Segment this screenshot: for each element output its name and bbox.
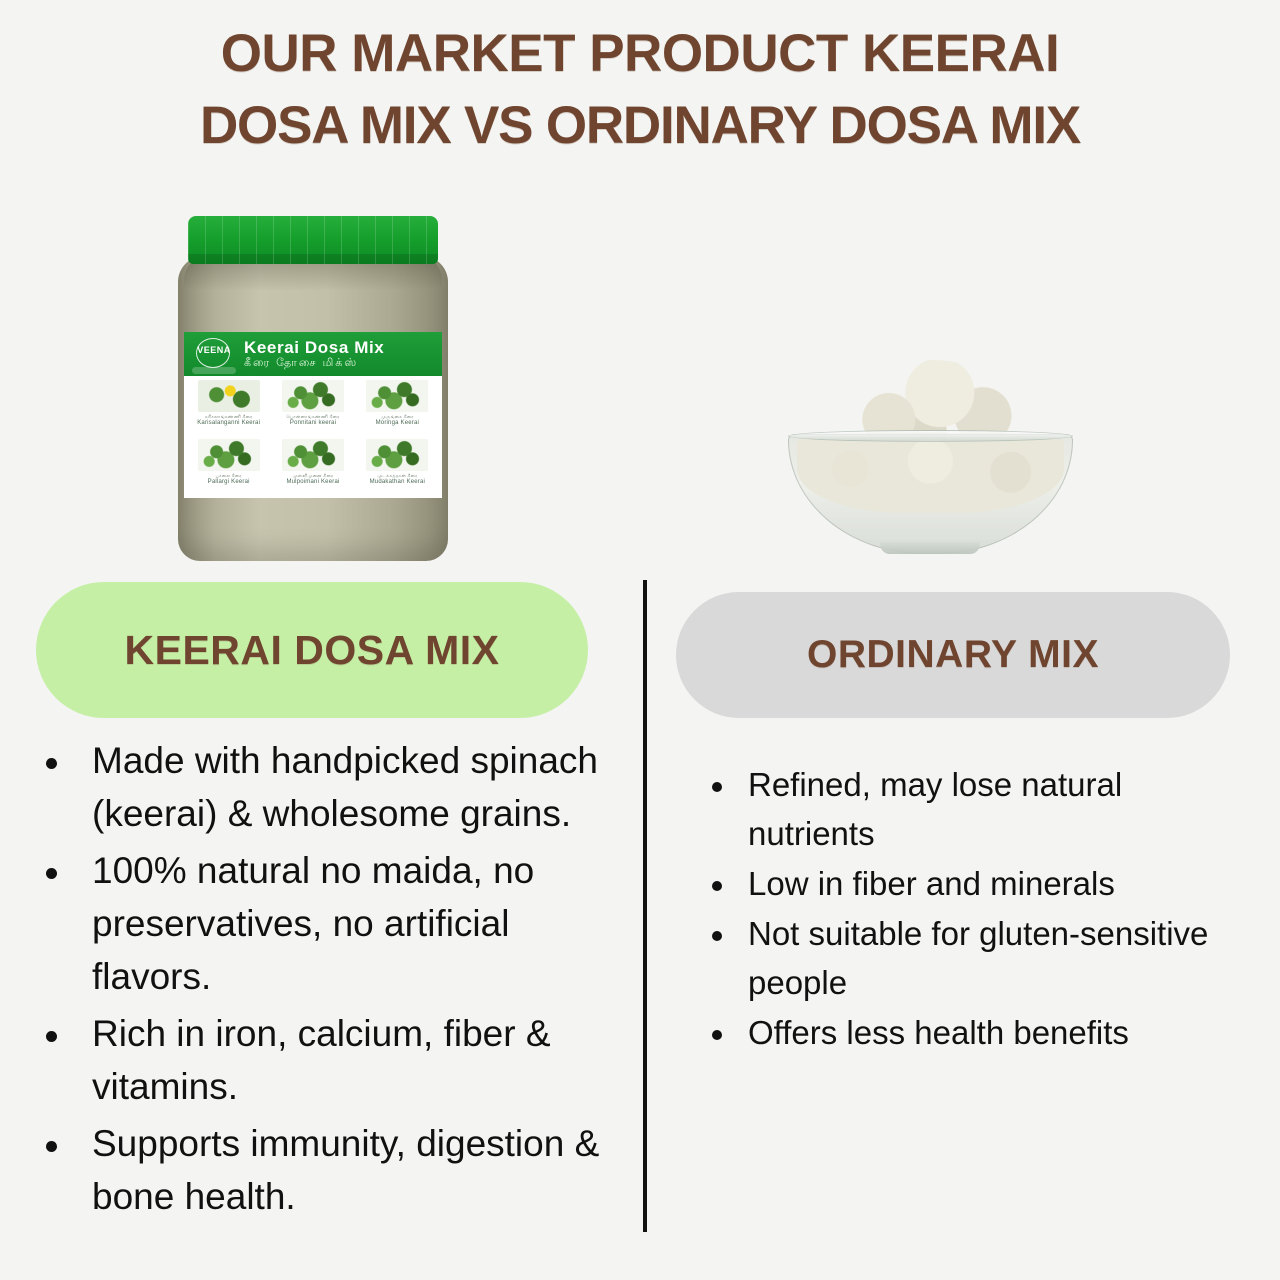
herb-photo-icon [366, 380, 428, 412]
herb-cell: பொன்னாங்கண்ணி கீரை Ponnitani keerai [271, 380, 354, 438]
herb-name-english: Ponnitani keerai [290, 420, 336, 427]
ordinary-mix-drawbacks-list: Refined, may lose natural nutrients Low … [700, 760, 1230, 1058]
list-item: 100% natural no maida, no preservatives,… [32, 844, 632, 1003]
column-divider [643, 580, 647, 1232]
herb-cell: முருங்கை கீரை Moringa Keerai [356, 380, 439, 438]
page-title: OUR MARKET PRODUCT KEERAI DOSA MIX VS OR… [0, 18, 1280, 162]
herb-name-english: Pallargi Keerai [208, 479, 250, 486]
herb-cell: பசலை கீரை Pallargi Keerai [187, 439, 270, 497]
list-item: Not suitable for gluten-sensitive people [700, 909, 1230, 1007]
herb-name-english: Moringa Keerai [376, 420, 420, 427]
herb-photo-icon [282, 439, 344, 471]
ordinary-flour-bowl-image [788, 360, 1073, 560]
label-header-band: VEENA Keerai Dosa Mix கீரை தோசை மிக்ஸ் [184, 332, 442, 376]
keerai-dosa-mix-heading-label: KEERAI DOSA MIX [124, 627, 499, 674]
comparison-poster: OUR MARKET PRODUCT KEERAI DOSA MIX VS OR… [0, 0, 1280, 1280]
herb-name-english: Mudakathan Keerai [370, 479, 425, 486]
glass-bowl [788, 434, 1073, 554]
herb-name-english: Mulpoimani Keerai [286, 479, 339, 486]
keerai-dosa-mix-heading-pill: KEERAI DOSA MIX [36, 582, 588, 718]
label-title-group: Keerai Dosa Mix கீரை தோசை மிக்ஸ் [238, 338, 384, 370]
herb-cell: முடக்கத்தான் கீரை Mudakathan Keerai [356, 439, 439, 497]
veena-brand-logo-icon: VEENA [190, 334, 238, 374]
label-title-english: Keerai Dosa Mix [244, 338, 384, 357]
logo-tagline-bar [192, 367, 236, 374]
list-item: Supports immunity, digestion & bone heal… [32, 1117, 632, 1223]
bowl-rim [788, 430, 1073, 442]
title-line-2: DOSA MIX VS ORDINARY DOSA MIX [0, 90, 1280, 162]
title-line-1: OUR MARKET PRODUCT KEERAI [0, 18, 1280, 90]
list-item: Low in fiber and minerals [700, 859, 1230, 908]
list-item: Offers less health benefits [700, 1008, 1230, 1057]
jar-product-label: VEENA Keerai Dosa Mix கீரை தோசை மிக்ஸ் க… [184, 332, 442, 498]
herb-cell: முள்ளிமுனை கீரை Mulpoimani Keerai [271, 439, 354, 497]
herb-grid: கரிசலாங்கண்ணி கீரை Karisalanganni Keerai… [184, 376, 442, 498]
list-item: Refined, may lose natural nutrients [700, 760, 1230, 858]
jar-lid-ribs [188, 216, 438, 264]
herb-photo-icon [198, 380, 260, 412]
flour-inside-bowl [797, 439, 1064, 513]
herb-name-english: Karisalanganni Keerai [197, 420, 260, 427]
label-title-tamil: கீரை தோசை மிக்ஸ் [244, 357, 384, 370]
keerai-dosa-mix-jar-image: VEENA Keerai Dosa Mix கீரை தோசை மிக்ஸ் க… [178, 216, 468, 561]
herb-cell: கரிசலாங்கண்ணி கீரை Karisalanganni Keerai [187, 380, 270, 438]
list-item: Made with handpicked spinach (keerai) & … [32, 734, 632, 840]
logo-wordmark: VEENA [195, 345, 233, 355]
keerai-dosa-mix-benefits-list: Made with handpicked spinach (keerai) & … [32, 734, 632, 1227]
herb-photo-icon [282, 380, 344, 412]
herb-photo-icon [366, 439, 428, 471]
ordinary-mix-heading-pill: ORDINARY MIX [676, 592, 1230, 718]
bowl-foot [880, 542, 980, 554]
ordinary-mix-heading-label: ORDINARY MIX [807, 633, 1099, 677]
list-item: Rich in iron, calcium, fiber & vitamins. [32, 1007, 632, 1113]
herb-photo-icon [198, 439, 260, 471]
